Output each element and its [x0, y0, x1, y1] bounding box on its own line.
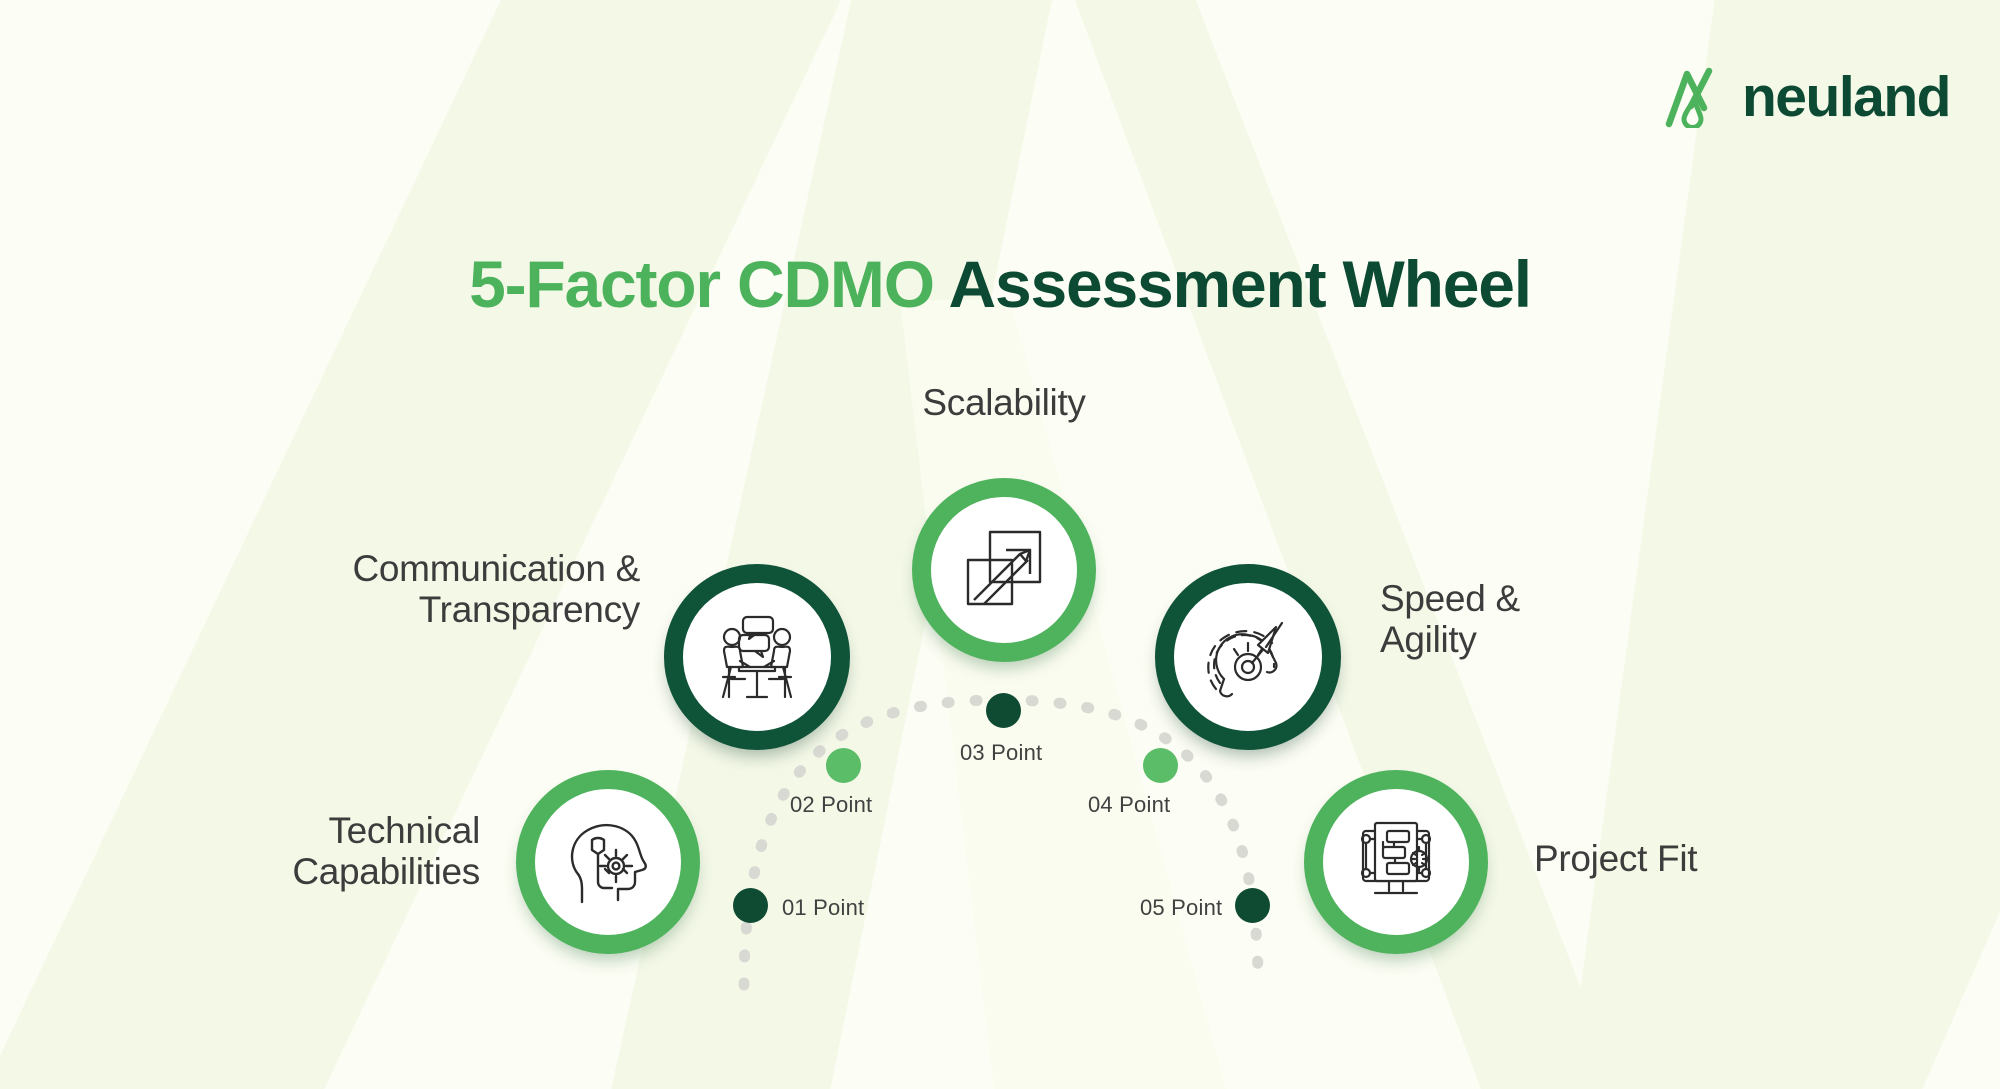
factor-node-technical-capabilities[interactable]	[516, 770, 700, 954]
point-dot-02	[826, 748, 861, 783]
point-dot-05	[1235, 888, 1270, 923]
point-dot-03	[986, 693, 1021, 728]
point-label-02: 02 Point	[790, 792, 872, 818]
head-wrench-gear-icon	[556, 810, 660, 914]
factor-node-project-fit[interactable]	[1304, 770, 1488, 954]
assessment-wheel: Technical Capabilities 01 Point	[0, 0, 2000, 1089]
point-label-05: 05 Point	[1140, 895, 1222, 921]
factor-label-project-fit: Project Fit	[1534, 838, 1894, 879]
speedometer-arrow-icon	[1196, 605, 1300, 709]
point-label-04: 04 Point	[1088, 792, 1170, 818]
point-label-01: 01 Point	[782, 895, 864, 921]
factor-node-speed-agility[interactable]	[1155, 564, 1341, 750]
monitor-workflow-gear-icon	[1345, 811, 1447, 913]
people-meeting-speech-icon	[705, 605, 809, 709]
factor-label-speed-agility: Speed & Agility	[1380, 578, 1710, 661]
point-dot-01	[733, 888, 768, 923]
factor-label-scalability: Scalability	[804, 382, 1204, 423]
infographic-canvas: neuland 5-Factor CDMO Assessment Wheel	[0, 0, 2000, 1089]
factor-node-scalability[interactable]	[912, 478, 1096, 662]
point-label-03: 03 Point	[960, 740, 1042, 766]
factor-label-communication-transparency: Communication & Transparency	[180, 548, 640, 631]
point-dot-04	[1143, 748, 1178, 783]
factor-node-communication-transparency[interactable]	[664, 564, 850, 750]
expand-arrow-squares-icon	[954, 520, 1054, 620]
factor-label-technical-capabilities: Technical Capabilities	[150, 810, 480, 893]
